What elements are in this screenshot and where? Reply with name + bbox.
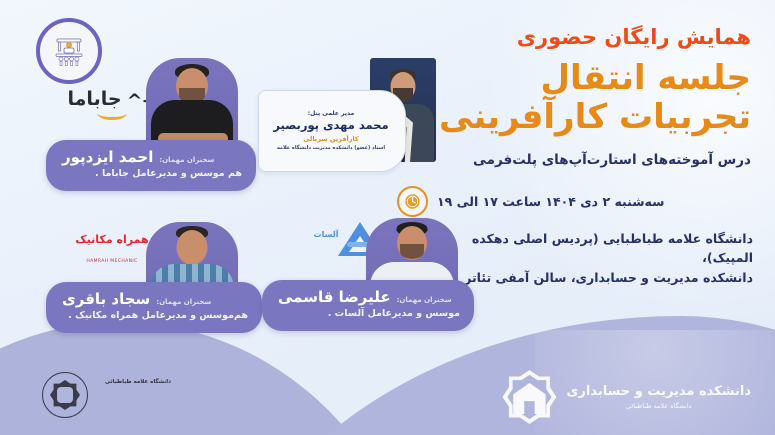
jabama-wordmark: جاباما bbox=[68, 88, 122, 110]
speaker-title: موسس و مدیرعامل آلسات . bbox=[278, 308, 460, 320]
event-poster: همایش رایگان حضوری جلسه انتقال تجربیات ک… bbox=[0, 0, 775, 435]
faculty-caption-line1: دانشکده مدیریت و حسابداری bbox=[566, 384, 751, 399]
poster-title-line1: جلسه انتقال bbox=[541, 58, 751, 98]
poster-title: جلسه انتقال تجربیات کارآفرینی bbox=[397, 60, 751, 135]
speaker-role: سخنران مهمان: bbox=[156, 298, 211, 306]
speaker-band-top: علیرضا قاسمی سخنران مهمان: bbox=[278, 289, 460, 306]
footer-logo-faculty: دانشکده مدیریت و حسابداری دانشگاه علامه … bbox=[502, 370, 751, 424]
moderator-tagline: کارآفرین سریالی bbox=[267, 135, 395, 143]
alsat-logo: آلسات bbox=[286, 222, 366, 241]
moderator-affiliation: استاد (عضو) دانشکده مدیریت دانشگاه علامه bbox=[267, 145, 395, 152]
university-seal-icon bbox=[42, 372, 88, 418]
datetime-row: سه‌شنبه ۲ دی ۱۴۰۴ ساعت ۱۷ الی ۱۹ bbox=[397, 186, 753, 217]
speaker-title: هم موسس و مدیرعامل جاباما . bbox=[62, 168, 242, 180]
seal-star-shape bbox=[50, 380, 80, 410]
footer-logo-university-seal bbox=[42, 372, 88, 418]
speaker-band-top: سجاد باقری سخنران مهمان: bbox=[62, 291, 248, 308]
speaker-band-top: احمد ایزدپور سخنران مهمان: bbox=[62, 149, 242, 166]
alsat-wordmark: آلسات bbox=[314, 230, 339, 239]
faculty-logo-icon bbox=[502, 370, 556, 424]
speaker-role: سخنران مهمان: bbox=[159, 156, 214, 164]
photo-beard bbox=[400, 244, 424, 259]
poster-kicker: همایش رایگان حضوری bbox=[397, 24, 751, 50]
location-line1: دانشگاه علامه طباطبایی (پردیس اصلی دهکده… bbox=[472, 231, 753, 265]
speaker-role: سخنران مهمان: bbox=[397, 296, 452, 304]
faculty-caption: دانشکده مدیریت و حسابداری دانشگاه علامه … bbox=[566, 384, 751, 410]
clock-icon bbox=[397, 186, 428, 217]
faculty-caption-line2: دانشگاه علامه طباطبائی bbox=[566, 402, 751, 410]
photo-head bbox=[177, 230, 208, 265]
speaker-title: هم‌موسس و مدیرعامل همراه مکانیک . bbox=[62, 310, 248, 322]
hamrah-mechanic-wordmark: همراه مکانیک bbox=[75, 233, 148, 246]
speaker-band-ahmad: احمد ایزدپور سخنران مهمان: هم موسس و مدی… bbox=[46, 140, 256, 191]
allameh-caption: دانشگاه علامه طباطبائی bbox=[105, 379, 171, 385]
speaker-name: سجاد باقری bbox=[62, 291, 150, 308]
poster-subtitle: درس آموخته‌های استارت‌آپ‌های پلت‌فرمی bbox=[397, 150, 751, 170]
lecture-hall-icon bbox=[52, 35, 86, 67]
moderator-role: مدیر علمی پنل: bbox=[267, 110, 395, 117]
speaker-band-alireza: علیرضا قاسمی سخنران مهمان: موسس و مدیرعا… bbox=[262, 280, 474, 331]
location-line2: دانشکده مدیریت و حسابداری، سالن آمفی تئا… bbox=[437, 268, 753, 287]
poster-title-line2: تجربیات کارآفرینی bbox=[397, 99, 751, 136]
datetime-text: سه‌شنبه ۲ دی ۱۴۰۴ ساعت ۱۷ الی ۱۹ bbox=[437, 192, 664, 211]
speaker-name: علیرضا قاسمی bbox=[278, 289, 391, 306]
hamrah-mechanic-wordmark-en: HAMRAH MECHANIC bbox=[86, 259, 137, 264]
location-text: دانشگاه علامه طباطبایی (پردیس اصلی دهکده… bbox=[437, 229, 753, 287]
moderator-name: محمد مهدی پوربصیر bbox=[267, 119, 395, 133]
speaker-name: احمد ایزدپور bbox=[62, 149, 153, 166]
speaker-band-sajjad: سجاد باقری سخنران مهمان: هم‌موسس و مدیرع… bbox=[46, 282, 262, 333]
moderator-card: مدیر علمی پنل: محمد مهدی پوربصیر کارآفری… bbox=[258, 90, 406, 172]
lecture-hall-badge bbox=[36, 18, 102, 84]
footer-logo-allameh: دانشگاه علامه طباطبائی bbox=[105, 368, 171, 387]
